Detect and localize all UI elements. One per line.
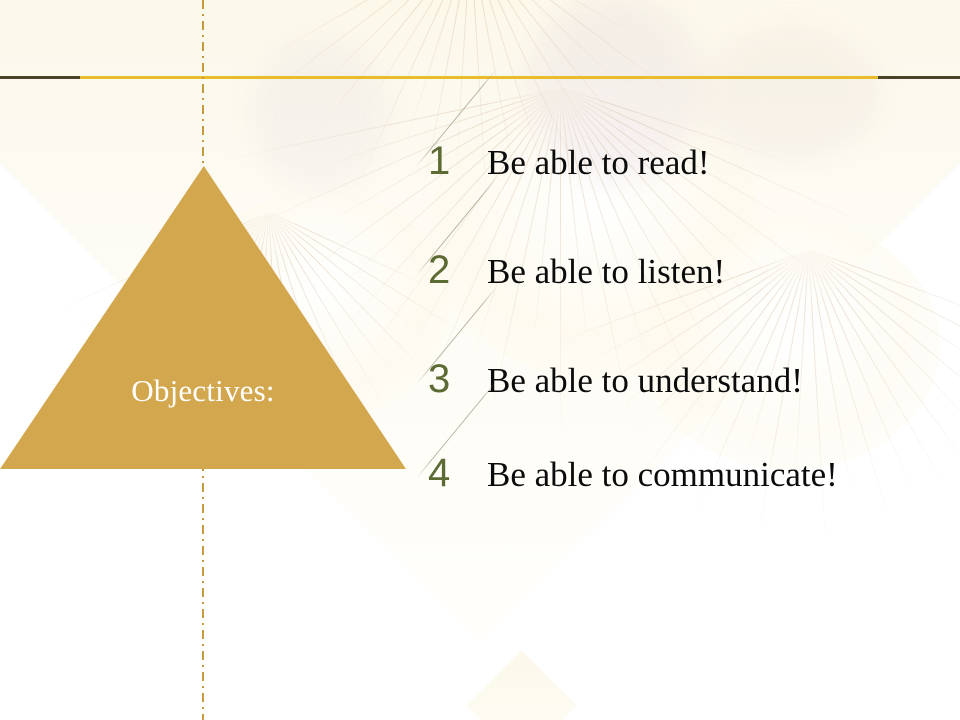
objective-item: 1 Be able to read! <box>418 140 948 194</box>
slide-title: Objectives: <box>0 166 406 469</box>
objectives-list: 1 Be able to read! 2 Be able to listen! … <box>418 140 948 506</box>
watermark-diamond-small <box>466 650 576 720</box>
top-rule-gold <box>80 76 878 79</box>
objective-text: Be able to read! <box>487 142 947 184</box>
objective-item: 2 Be able to listen! <box>418 249 948 303</box>
objective-text: Be able to understand! <box>487 360 947 402</box>
objective-text: Be able to listen! <box>487 251 947 293</box>
objectives-triangle: Objectives: <box>0 166 406 469</box>
objective-item: 4 Be able to communicate! <box>418 452 948 506</box>
objective-text: Be able to communicate! <box>487 454 947 496</box>
objective-item: 3 Be able to understand! <box>418 358 948 412</box>
slide-canvas: Objectives: 1 Be able to read! 2 Be able… <box>0 0 960 720</box>
